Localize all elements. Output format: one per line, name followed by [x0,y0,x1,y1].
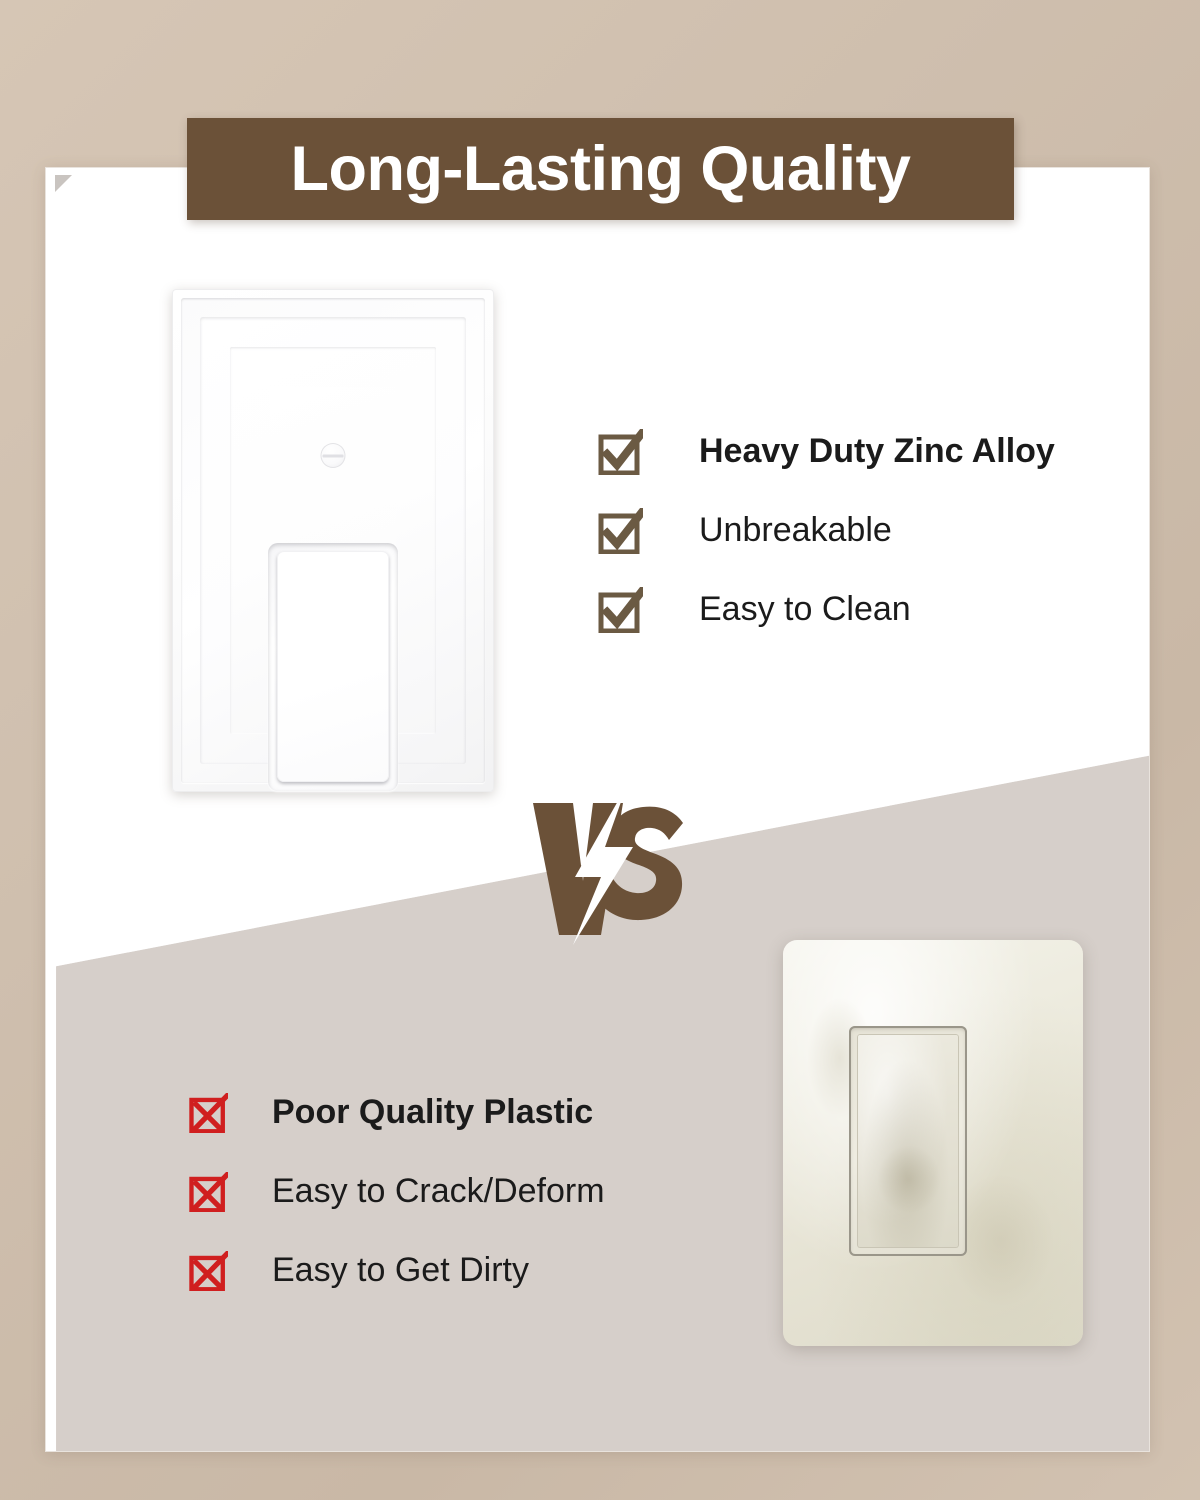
feature-label: Unbreakable [699,511,892,550]
page-title: Long-Lasting Quality [291,138,911,201]
bad-feature-list: Poor Quality Plastic Easy to Crack/Defor… [188,1073,708,1310]
old-rocker-well [849,1026,967,1256]
vs-lightning-icon [515,785,700,945]
corner-fold-icon [55,175,72,192]
list-item: Easy to Clean [597,570,1097,649]
good-product-image [172,289,494,792]
list-item: Easy to Crack/Deform [188,1152,708,1231]
x-box-icon [188,1172,228,1212]
plate-bevel-outer [172,289,494,792]
feature-label: Easy to Get Dirty [272,1251,529,1290]
old-rocker-switch[interactable] [857,1034,959,1248]
plate-bevel-third [200,317,466,764]
feature-label: Heavy Duty Zinc Alloy [699,432,1055,471]
plate-bevel-second [181,298,485,783]
list-item: Heavy Duty Zinc Alloy [597,412,1097,491]
infographic-page: Long-Lasting Quality [0,0,1200,1500]
feature-label: Easy to Clean [699,590,911,629]
bad-product-image [783,940,1083,1346]
feature-label: Poor Quality Plastic [272,1093,593,1132]
dirt-smudge [877,1145,940,1213]
x-box-icon [188,1093,228,1133]
plate-bevel-inner [230,347,436,734]
vs-graphic [515,785,700,945]
title-banner: Long-Lasting Quality [187,118,1014,220]
list-item: Poor Quality Plastic [188,1073,708,1152]
feature-label: Easy to Crack/Deform [272,1172,605,1211]
good-feature-list: Heavy Duty Zinc Alloy Unbreakable Easy t… [597,412,1097,649]
check-box-icon [597,508,643,554]
rocker-switch-well [268,543,398,791]
rocker-switch[interactable] [277,551,389,782]
x-box-icon [188,1251,228,1291]
plate-face [270,387,396,694]
check-box-icon [597,429,643,475]
check-box-icon [597,587,643,633]
screw-top-icon [321,443,346,468]
list-item: Unbreakable [597,491,1097,570]
list-item: Easy to Get Dirty [188,1231,708,1310]
